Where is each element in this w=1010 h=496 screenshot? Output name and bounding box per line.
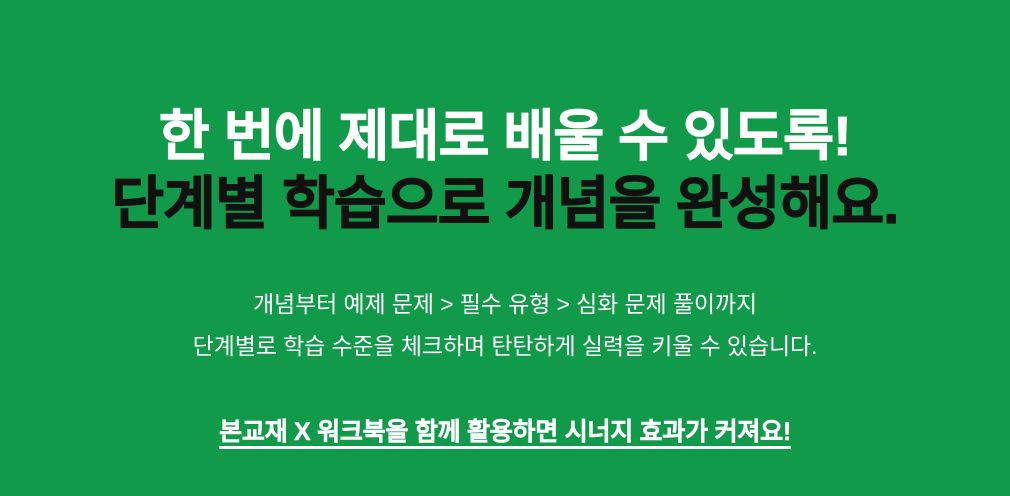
headline-line-1: 한 번에 제대로 배울 수 있도록! xyxy=(0,104,1010,168)
headline-line-2: 단계별 학습으로 개념을 완성해요. xyxy=(0,171,1010,237)
promo-banner: 한 번에 제대로 배울 수 있도록! 단계별 학습으로 개념을 완성해요. 개념… xyxy=(0,0,1010,496)
cta-container: 본교재 X 워크북을 함께 활용하면 시너지 효과가 커져요! xyxy=(0,415,1010,449)
body-copy: 개념부터 예제 문제 > 필수 유형 > 심화 문제 풀이까지 단계별로 학습 … xyxy=(0,283,1010,367)
cta-emphasis-text: 본교재 X 워크북을 함께 활용하면 시너지 효과가 커져요! xyxy=(219,415,791,449)
headline: 한 번에 제대로 배울 수 있도록! 단계별 학습으로 개념을 완성해요. xyxy=(0,0,1010,237)
body-copy-line-2: 단계별로 학습 수준을 체크하며 탄탄하게 실력을 키울 수 있습니다. xyxy=(0,325,1010,367)
body-copy-line-1: 개념부터 예제 문제 > 필수 유형 > 심화 문제 풀이까지 xyxy=(0,283,1010,325)
